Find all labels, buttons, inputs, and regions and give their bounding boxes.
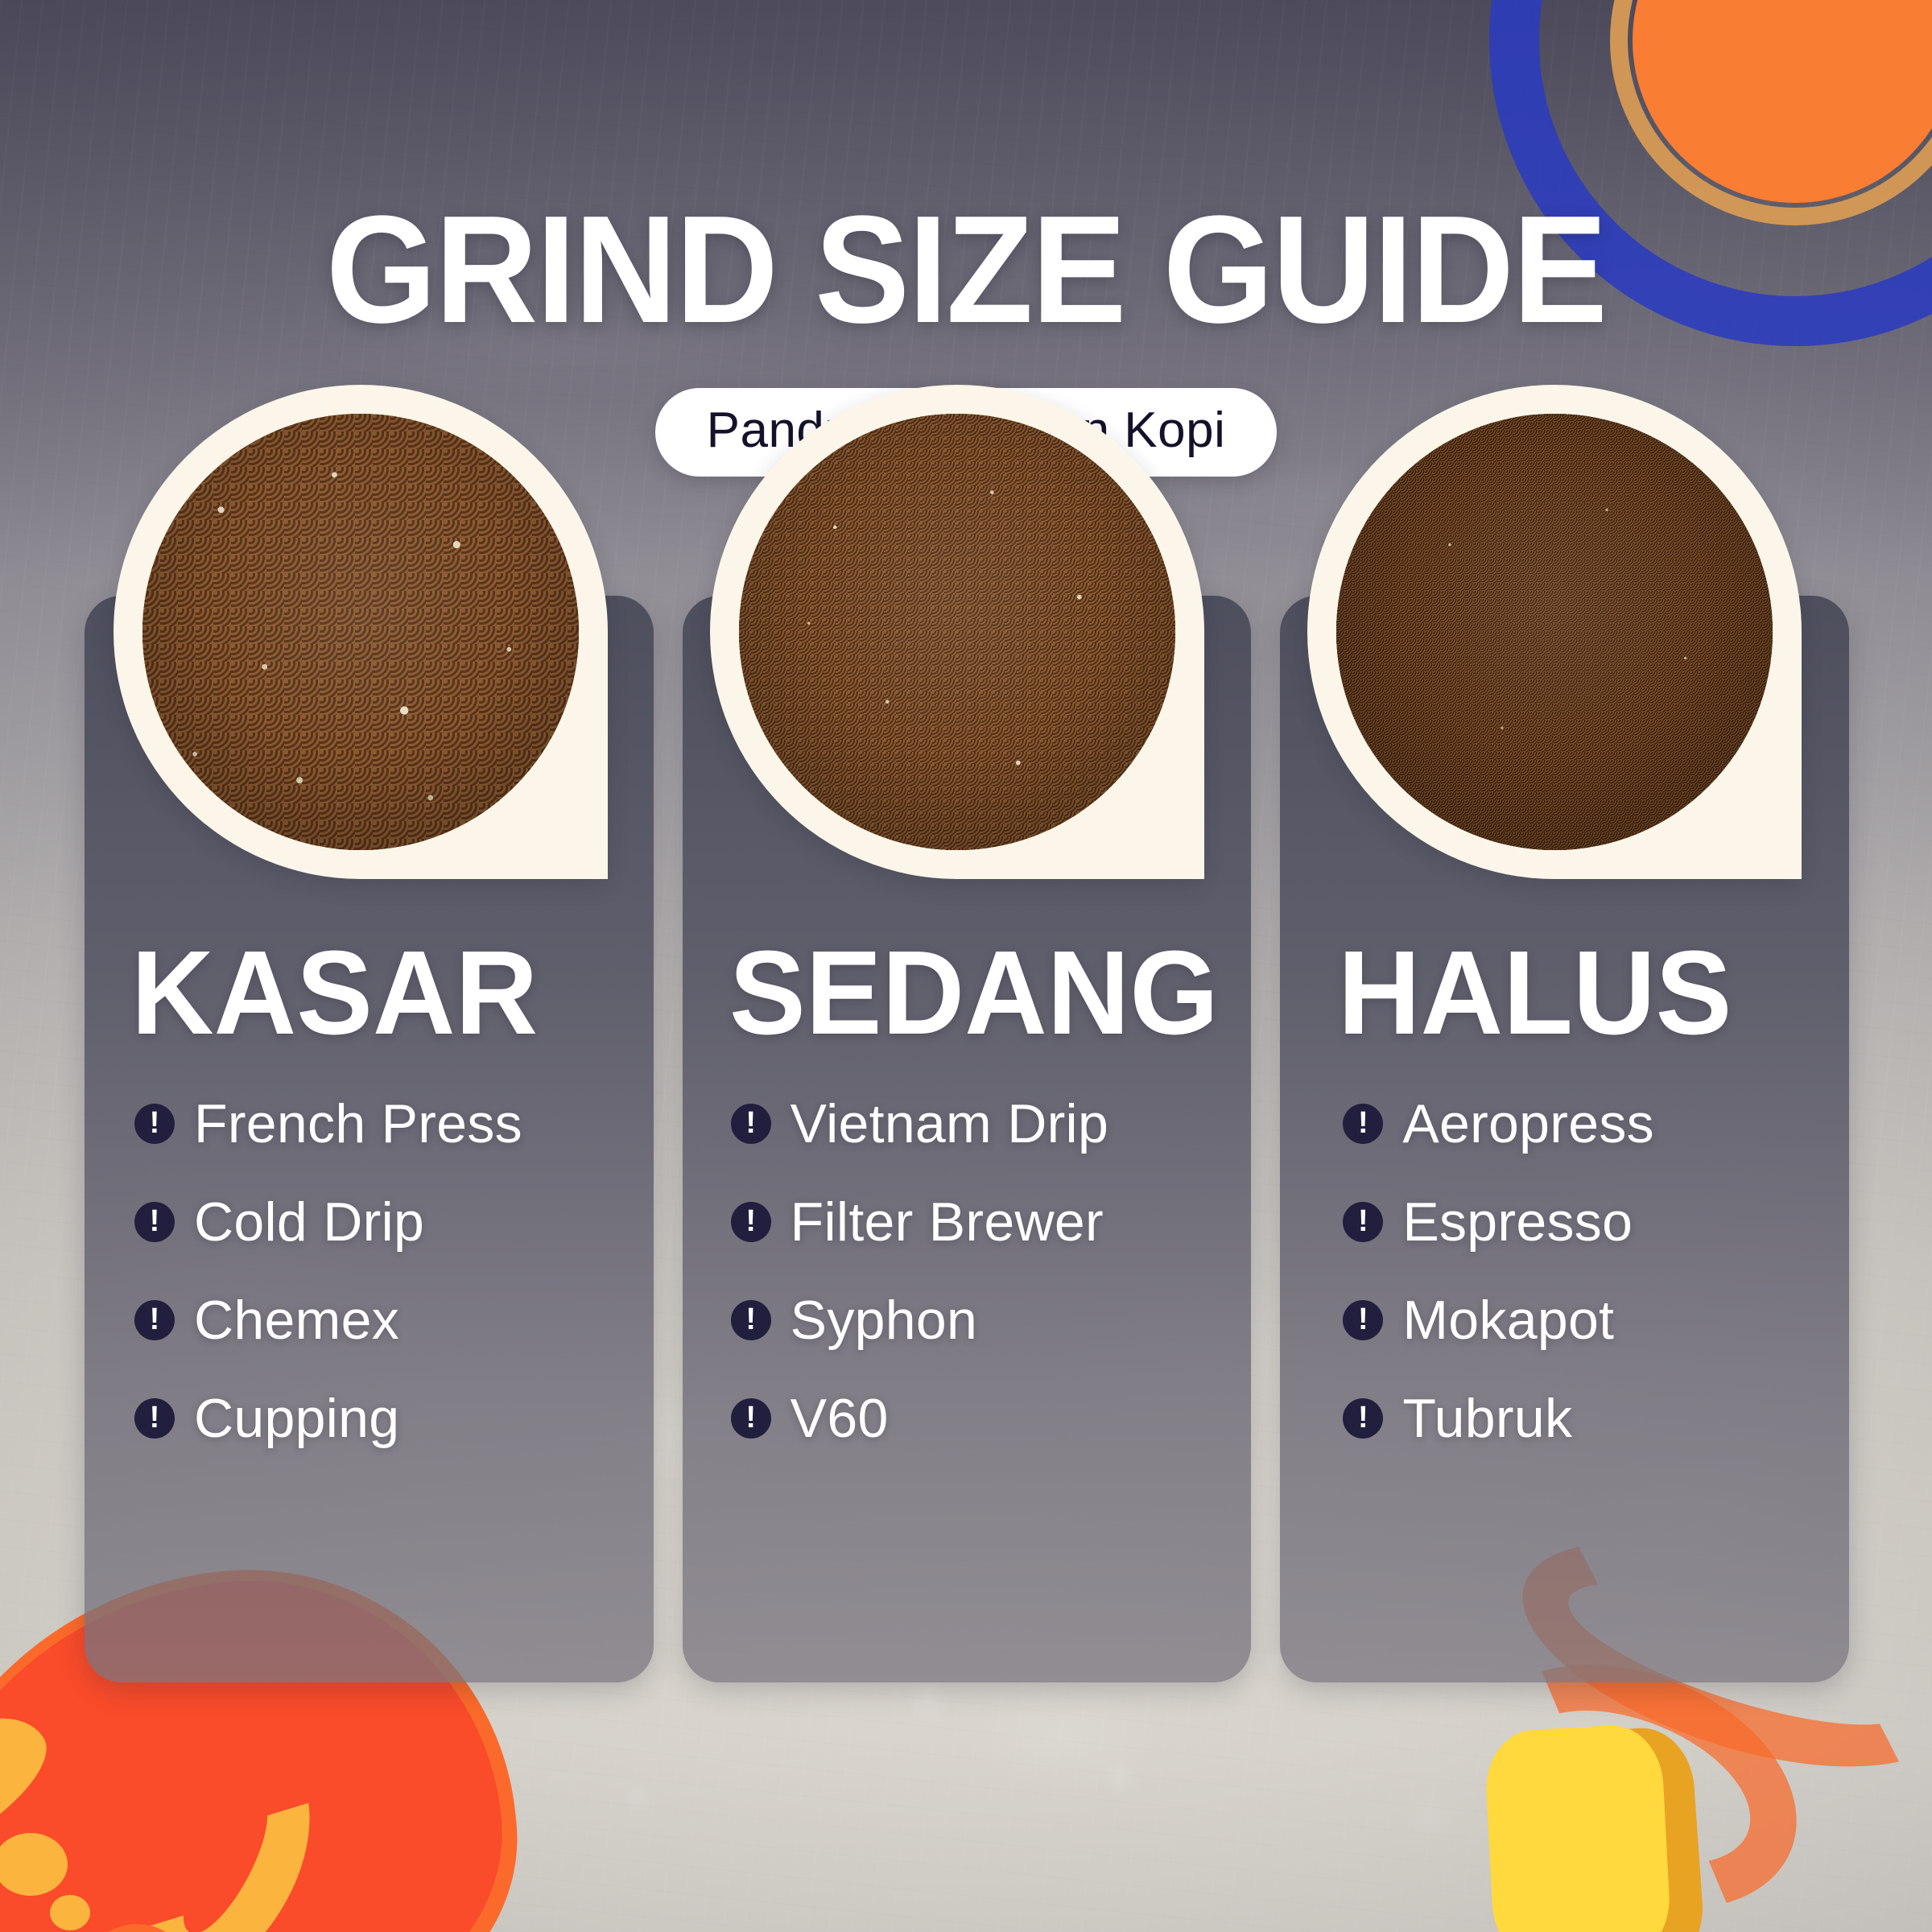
list-item[interactable]: ! Espresso (1343, 1193, 1817, 1251)
list-item-label: Tubruk (1402, 1389, 1572, 1447)
exclamation-icon: ! (731, 1202, 771, 1242)
card-title-kasar: KASAR (131, 934, 538, 1053)
list-item[interactable]: ! Cupping (134, 1389, 621, 1447)
photo-frame-halus (1307, 385, 1802, 879)
list-item-label: Cupping (194, 1389, 399, 1447)
exclamation-icon: ! (1343, 1398, 1383, 1439)
page-title: GRIND SIZE GUIDE (68, 193, 1864, 346)
exclamation-icon: ! (1343, 1300, 1383, 1340)
list-item-label: Mokapot (1402, 1291, 1614, 1349)
list-item[interactable]: ! Filter Brewer (731, 1193, 1220, 1251)
photo-frame-kasar (114, 385, 608, 879)
exclamation-icon: ! (134, 1202, 175, 1242)
exclamation-icon: ! (731, 1104, 771, 1144)
photo-shading (739, 414, 1175, 850)
list-item[interactable]: ! Chemex (134, 1291, 621, 1349)
photo-shading (1336, 414, 1773, 850)
list-item-label: Vietnam Drip (791, 1095, 1108, 1153)
list-item[interactable]: ! V60 (731, 1389, 1220, 1447)
list-item[interactable]: ! Tubruk (1343, 1389, 1817, 1447)
list-item[interactable]: ! Mokapot (1343, 1291, 1817, 1349)
grind-card-kasar[interactable]: KASAR ! French Press ! Cold Drip ! Cheme… (85, 596, 654, 1682)
list-item[interactable]: ! Cold Drip (134, 1193, 621, 1251)
coarse-grounds-photo (142, 414, 579, 850)
grind-card-list: KASAR ! French Press ! Cold Drip ! Cheme… (85, 596, 1849, 1682)
exclamation-icon: ! (731, 1398, 771, 1439)
exclamation-icon: ! (731, 1300, 771, 1340)
grind-card-sedang[interactable]: SEDANG ! Vietnam Drip ! Filter Brewer ! … (683, 596, 1252, 1682)
exclamation-icon: ! (1343, 1202, 1383, 1242)
photo-frame-sedang (710, 385, 1204, 879)
brew-method-list-halus: ! Aeropress ! Espresso ! Mokapot ! Tubru… (1343, 1095, 1817, 1488)
list-item-label: Espresso (1402, 1193, 1633, 1251)
list-item-label: Chemex (194, 1291, 399, 1349)
exclamation-icon: ! (1343, 1104, 1383, 1144)
list-item-label: Aeropress (1402, 1095, 1654, 1153)
list-item-label: Syphon (791, 1291, 977, 1349)
list-item[interactable]: ! Aeropress (1343, 1095, 1817, 1153)
card-title-halus: HALUS (1338, 934, 1732, 1053)
photo-shading (142, 414, 579, 850)
fine-grounds-photo (1336, 414, 1773, 850)
brew-method-list-sedang: ! Vietnam Drip ! Filter Brewer ! Syphon … (731, 1095, 1220, 1488)
exclamation-icon: ! (134, 1104, 175, 1144)
list-item[interactable]: ! Vietnam Drip (731, 1095, 1220, 1153)
grind-card-halus[interactable]: HALUS ! Aeropress ! Espresso ! Mokapot !… (1280, 596, 1849, 1682)
card-title-sedang: SEDANG (729, 934, 1219, 1053)
exclamation-icon: ! (134, 1300, 175, 1340)
list-item-label: V60 (791, 1389, 889, 1447)
medium-grounds-photo (739, 414, 1175, 850)
list-item[interactable]: ! French Press (134, 1095, 621, 1153)
list-item-label: Cold Drip (194, 1193, 424, 1251)
list-item-label: Filter Brewer (791, 1193, 1104, 1251)
list-item[interactable]: ! Syphon (731, 1291, 1220, 1349)
brew-method-list-kasar: ! French Press ! Cold Drip ! Chemex ! Cu… (134, 1095, 621, 1488)
exclamation-icon: ! (134, 1398, 175, 1439)
list-item-label: French Press (194, 1095, 522, 1153)
